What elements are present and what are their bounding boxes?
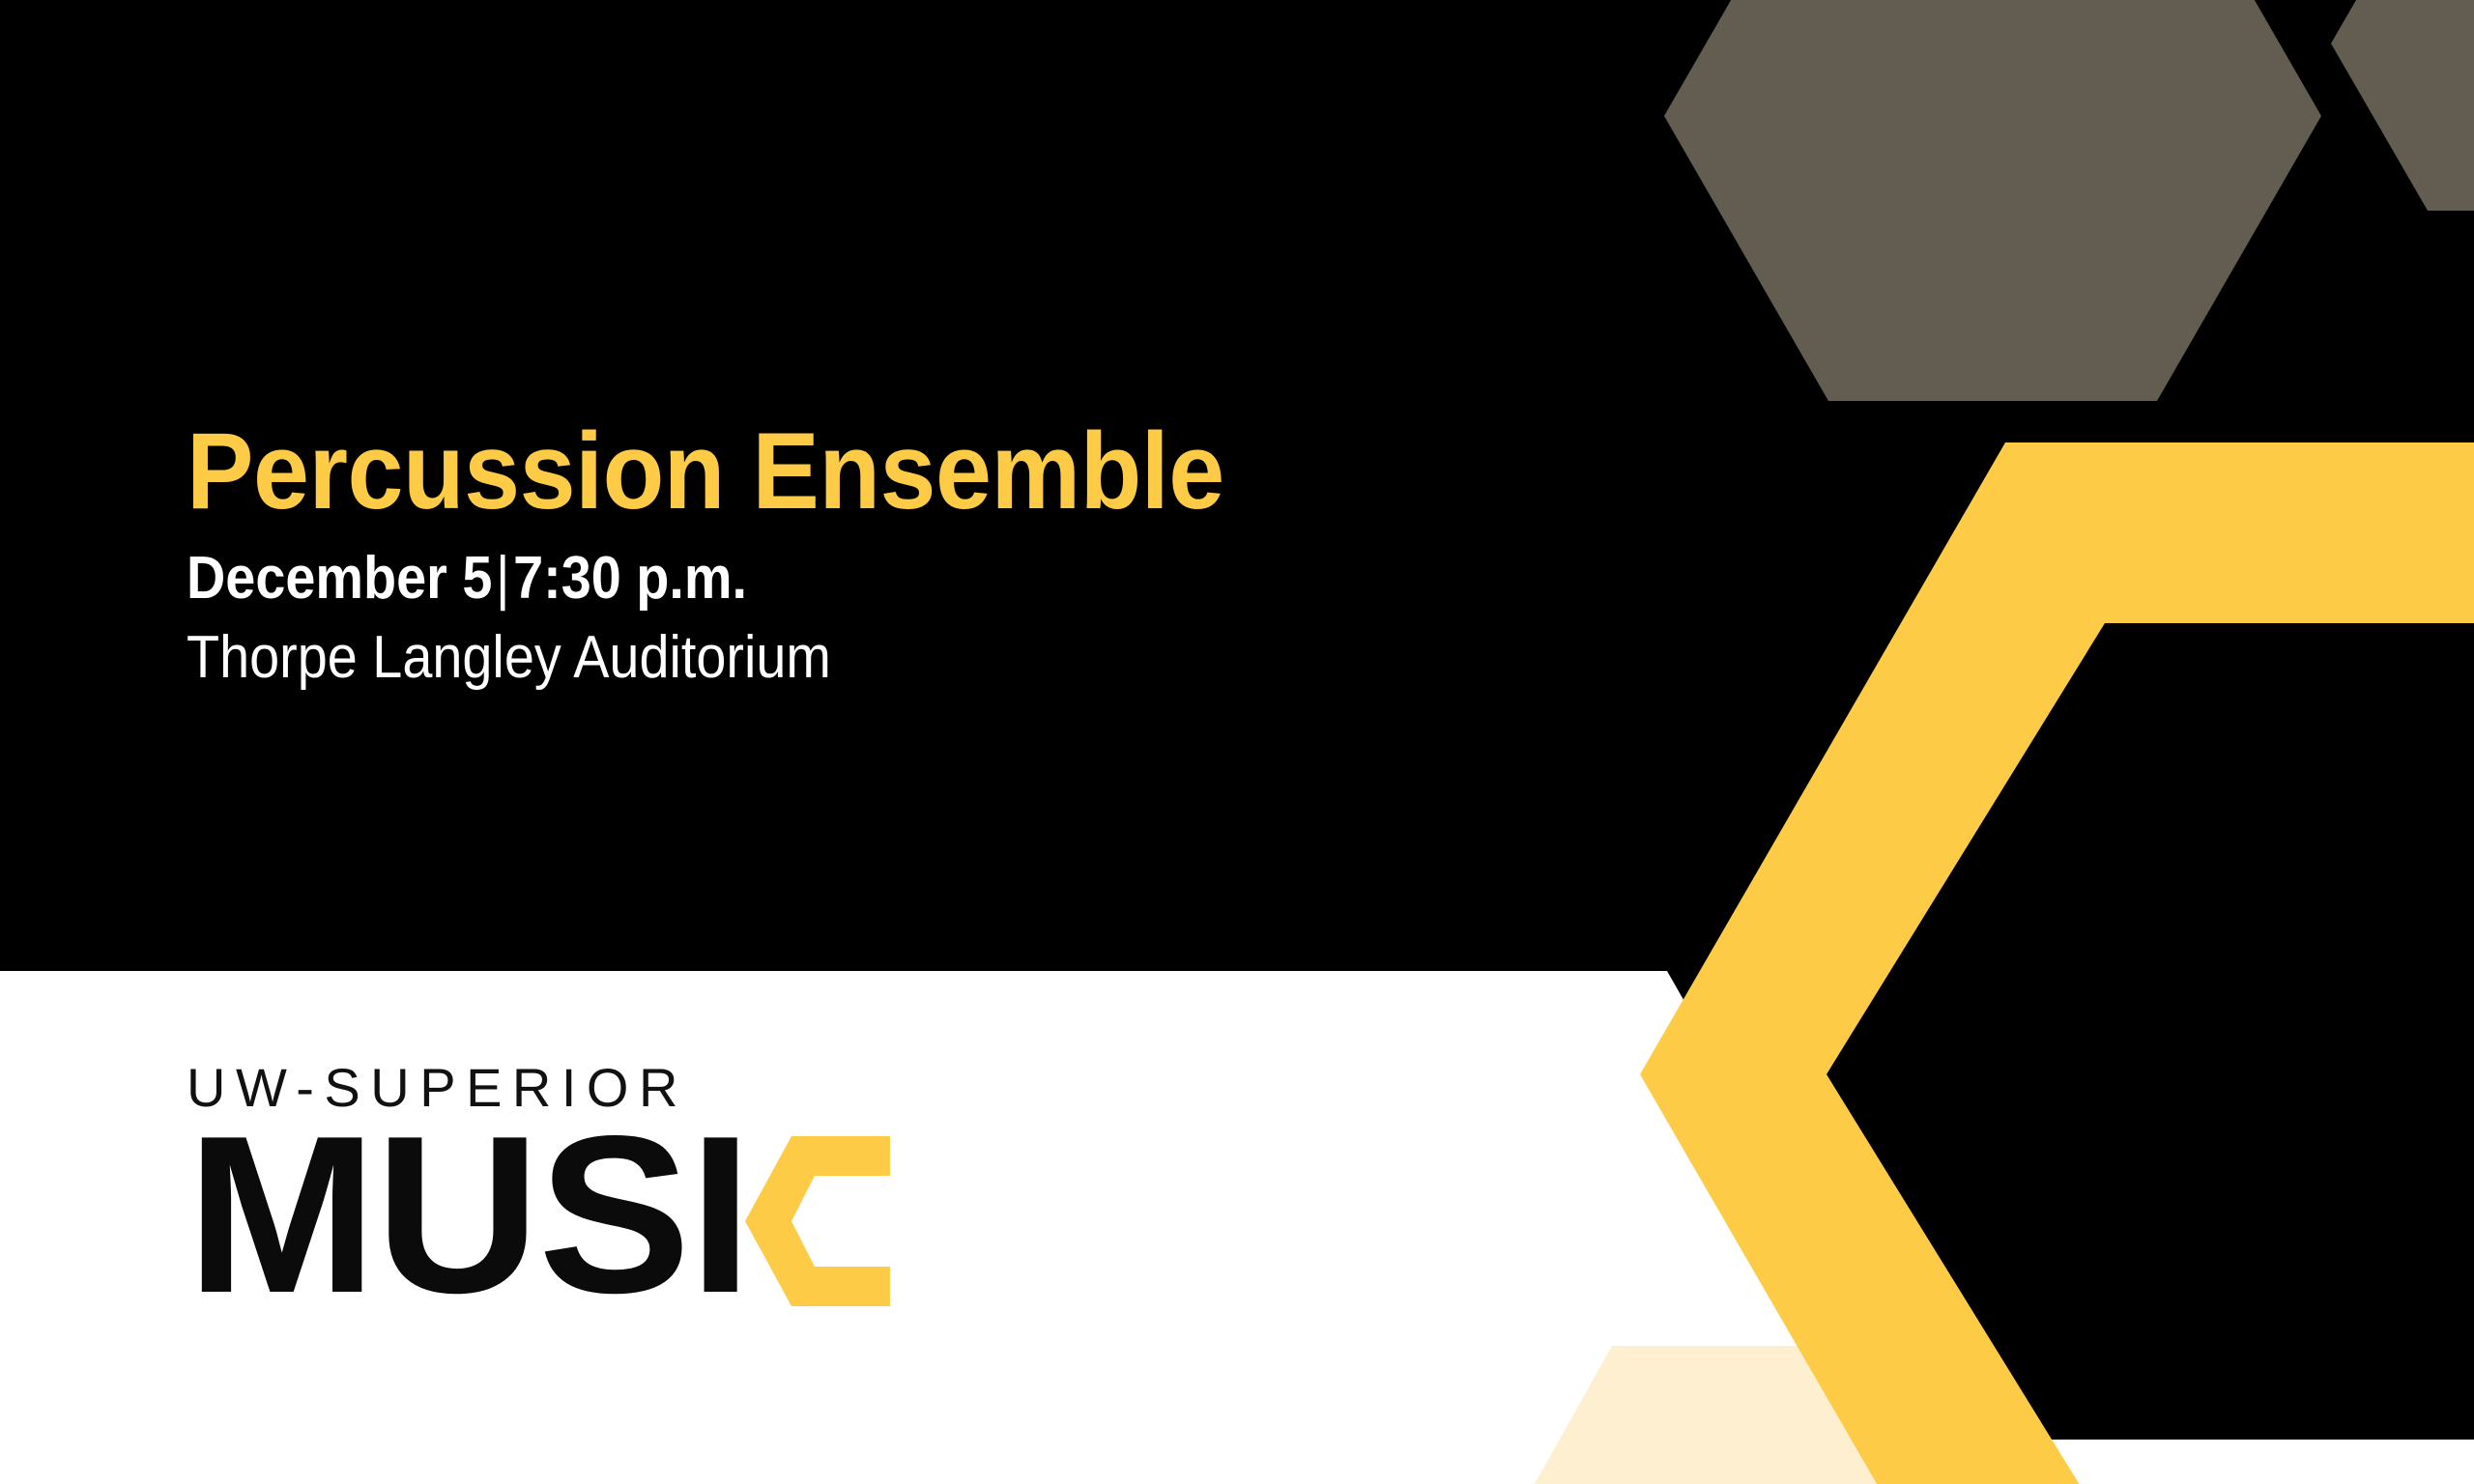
datetime-separator: | <box>492 549 513 609</box>
uw-superior-music-logo: UW-SUPERIOR MUSI <box>187 1061 890 1298</box>
event-title: Percussion Ensemble <box>187 417 1445 526</box>
event-poster: Percussion Ensemble December 5|7:30 p.m.… <box>0 0 2474 1484</box>
logo-hexagon-c-icon <box>745 1136 890 1306</box>
event-venue: Thorpe Langley Auditorium <box>187 628 1404 688</box>
logo-wordmark-row: MUSI <box>187 1132 890 1298</box>
logo-wordmark-musi: MUSI <box>187 1132 750 1298</box>
event-datetime: December 5|7:30 p.m. <box>187 549 1404 609</box>
event-time: 7:30 p.m. <box>513 545 747 612</box>
event-details: Percussion Ensemble December 5|7:30 p.m.… <box>187 417 1539 688</box>
event-date: December 5 <box>187 545 492 612</box>
